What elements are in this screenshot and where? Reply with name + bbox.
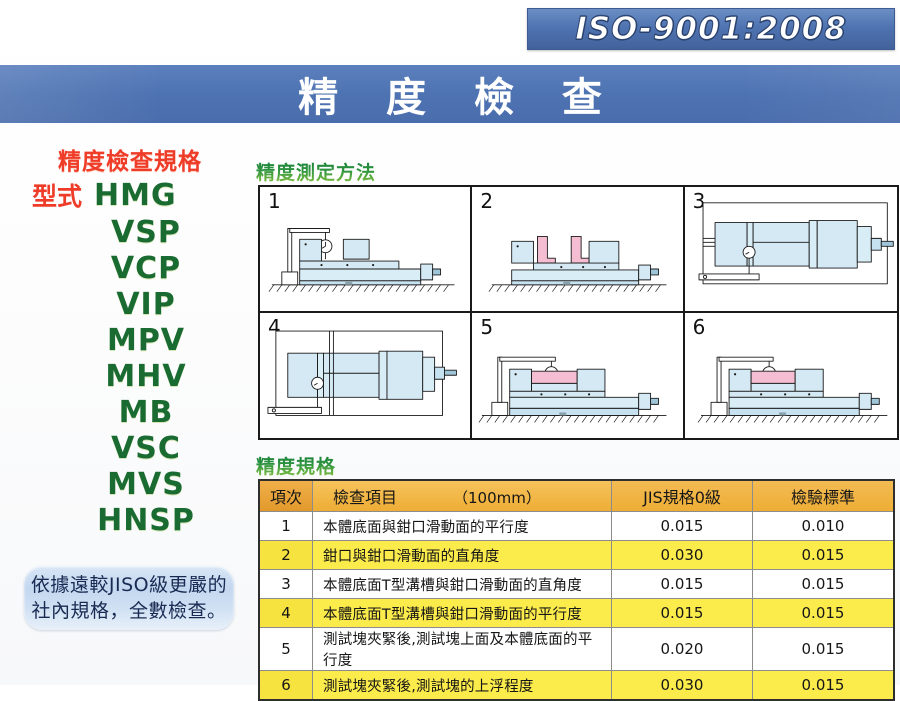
table-row: 5 測試塊夾緊後,測試塊上面及本體底面的平行度 0.020 0.015 [259,628,894,671]
page-title: 精 度 檢 查 [281,65,619,123]
list-item: VCP [14,251,244,287]
list-item: MVS [14,467,244,503]
table-row: 2 鉗口與鉗口滑動面的直角度 0.030 0.015 [259,541,894,570]
cell-index: 4 [259,599,313,628]
column-header-jis: JIS規格0級 [612,480,753,512]
list-item: MPV [14,323,244,359]
cell-jis: 0.020 [612,628,753,671]
diagram-panel-4: 4 [260,313,472,439]
cell-standard: 0.015 [753,541,895,570]
table-row: 1 本體底面與鉗口滑動面的平行度 0.015 0.010 [259,512,894,541]
list-item: HNSP [14,503,244,539]
cell-item: 本體底面T型溝槽與鉗口滑動面的平行度 [313,599,612,628]
type-label: 型式 [32,179,82,215]
column-header-item-inner: 檢查項目 （100mm） [319,484,605,508]
section-label-measurement-method: 精度測定方法 [256,158,376,185]
cell-item: 本體底面T型溝槽與鉗口滑動面的直角度 [313,570,612,599]
model-name-hmg: HMG [94,178,177,214]
list-item: MHV [14,359,244,395]
cell-index: 3 [259,570,313,599]
column-header-standard: 檢驗標準 [753,480,895,512]
list-item: VSP [14,215,244,251]
cell-jis: 0.030 [612,671,753,701]
cell-item: 測試塊夾緊後,測試塊的上浮程度 [313,671,612,701]
iso-badge-text: ISO-9001:2008 [575,11,847,47]
spec-heading: 精度檢查規格 [30,142,230,176]
cell-item: 本體底面與鉗口滑動面的平行度 [313,512,612,541]
cell-standard: 0.015 [753,570,895,599]
diagram-panel-5: 5 [472,313,684,439]
cell-standard: 0.010 [753,512,895,541]
cell-jis: 0.030 [612,541,753,570]
table-row: 4 本體底面T型溝槽與鉗口滑動面的平行度 0.015 0.015 [259,599,894,628]
table-row: 3 本體底面T型溝槽與鉗口滑動面的直角度 0.015 0.015 [259,570,894,599]
column-header-item-main: 檢查項目 [333,484,397,508]
cell-index: 1 [259,512,313,541]
vise-testblock-parallelism-diagram [472,313,682,439]
list-item: MB [14,395,244,431]
note-line-1: 依據遠較JISO級更嚴的 [31,572,227,598]
cell-jis: 0.015 [612,512,753,541]
vise-tslot-squareness-diagram [685,187,897,311]
list-item: VIP [14,287,244,323]
table-row: 6 測試塊夾緊後,測試塊的上浮程度 0.030 0.015 [259,671,894,701]
model-type-list: 型式 HMG VSP VCP VIP MPV MHV MB VSC MVS HN… [14,178,244,539]
column-header-item-unit: （100mm） [453,487,541,508]
cell-standard: 0.015 [753,671,895,701]
cell-standard: 0.015 [753,599,895,628]
table-header: 項次 檢查項目 （100mm） JIS規格0級 檢驗標準 [259,480,894,512]
cell-item: 測試塊夾緊後,測試塊上面及本體底面的平行度 [313,628,612,671]
model-name-list: VSP VCP VIP MPV MHV MB VSC MVS HNSP [14,215,244,539]
cell-index: 6 [259,671,313,701]
diagram-panel-2: 2 [472,187,684,313]
diagram-panel-3: 3 [685,187,897,313]
cell-index: 5 [259,628,313,671]
internal-spec-note: 依據遠較JISO級更嚴的 社內規格，全數檢查。 [24,566,234,630]
cell-item: 鉗口與鉗口滑動面的直角度 [313,541,612,570]
diagram-panel-6: 6 [685,313,897,439]
list-item: VSC [14,431,244,467]
note-line-2: 社內規格，全數檢查。 [31,598,226,624]
vise-parallelism-diagram [260,187,470,311]
cell-jis: 0.015 [612,570,753,599]
section-label-accuracy-spec: 精度規格 [256,452,336,479]
page-title-band: 精 度 檢 查 [0,65,900,123]
model-type-first-row: 型式 HMG [14,178,244,215]
accuracy-spec-table: 項次 檢查項目 （100mm） JIS規格0級 檢驗標準 1 本體底面與鉗口滑動… [258,479,895,701]
cell-standard: 0.015 [753,628,895,671]
vise-testblock-lift-diagram [685,313,897,439]
poster-page: ISO-9001:2008 精 度 檢 查 精度檢查規格 型式 HMG VSP … [0,0,900,685]
column-header-index: 項次 [259,480,313,512]
diagram-panel-1: 1 [260,187,472,313]
cell-index: 2 [259,541,313,570]
vise-squareness-diagram [472,187,682,311]
measurement-method-diagram-grid: 1 [258,185,899,440]
cell-jis: 0.015 [612,599,753,628]
iso-certification-badge: ISO-9001:2008 [527,8,895,50]
table-body: 1 本體底面與鉗口滑動面的平行度 0.015 0.010 2 鉗口與鉗口滑動面的… [259,512,894,701]
column-header-item: 檢查項目 （100mm） [313,480,612,512]
vise-tslot-parallelism-diagram [260,313,470,439]
table-header-row: 項次 檢查項目 （100mm） JIS規格0級 檢驗標準 [259,480,894,512]
